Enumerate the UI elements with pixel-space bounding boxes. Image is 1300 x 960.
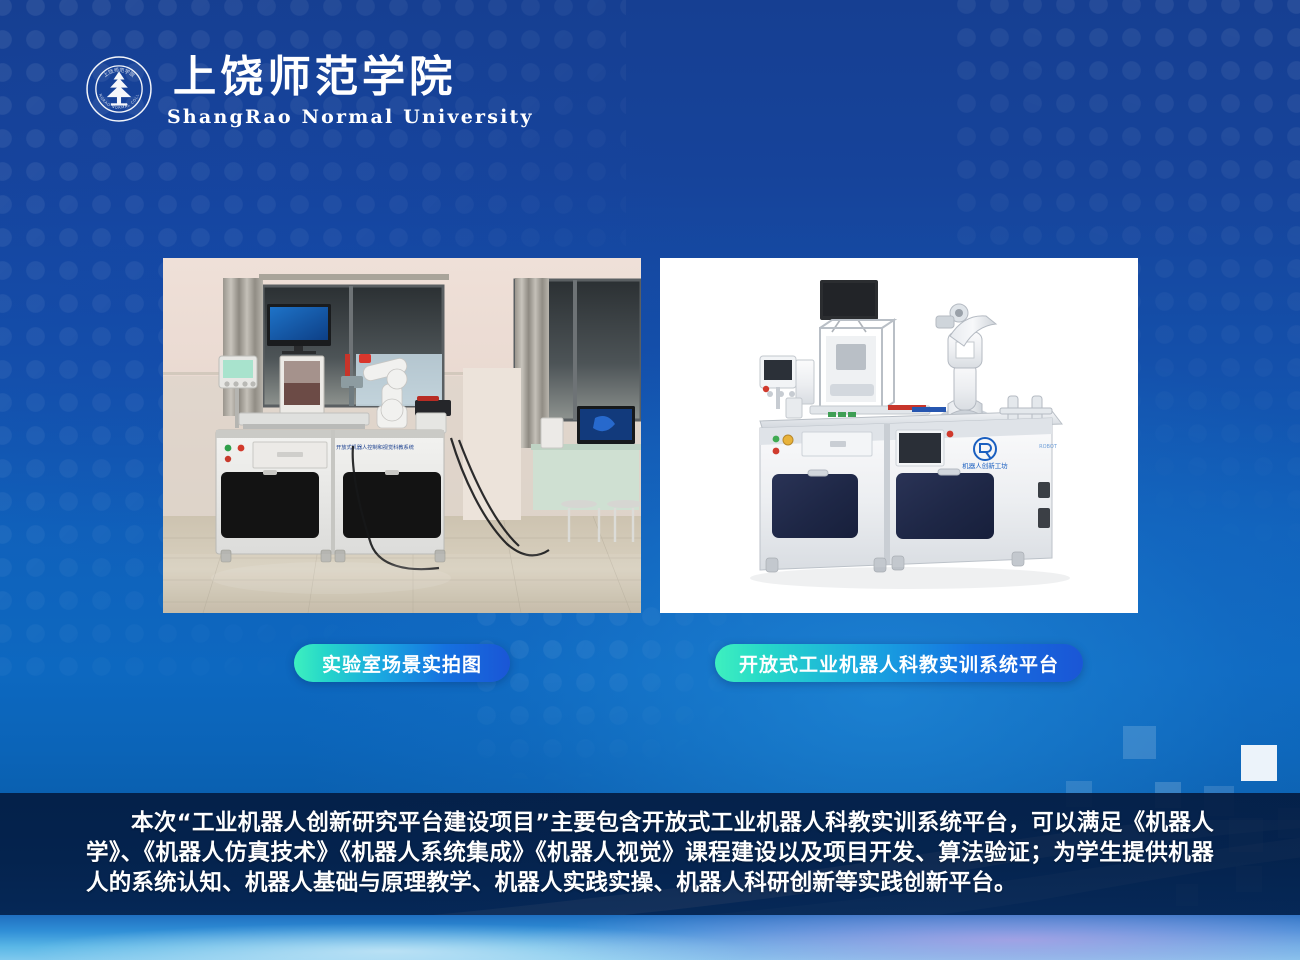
photo-gallery: 开放式机器人控制和视觉科教系统 <box>163 258 1138 613</box>
svg-text:ROBOT: ROBOT <box>1039 444 1058 450</box>
lab-photo-art: 开放式机器人控制和视觉科教系统 <box>163 258 641 613</box>
training-platform-render[interactable]: 机器人创新工坊 ROBOT <box>660 258 1138 613</box>
svg-text:机器人创新工坊: 机器人创新工坊 <box>962 461 1008 470</box>
svg-text:开放式机器人控制和视觉科教系统: 开放式机器人控制和视觉科教系统 <box>336 443 414 451</box>
caption-laboratory-scene[interactable]: 实验室场景实拍图 <box>294 644 510 682</box>
bottom-wave-decoration <box>0 915 1300 960</box>
description-text: 本次“工业机器人创新研究平台建设项目”主要包含开放式工业机器人科教实训系统平台，… <box>86 810 1214 896</box>
university-name-cn: 上饶师范学院 <box>167 50 497 104</box>
university-name-en: ShangRao Normal University <box>167 108 534 127</box>
svg-text:SHANGRAO NORMAL COLLEGE: SHANGRAO NORMAL COLLEGE <box>85 55 140 110</box>
university-logo: 上饶师范学院 SHANGRAO NORMAL COLLEGE 上饶师范学院 Sh… <box>85 50 534 127</box>
decorative-square <box>1123 726 1156 759</box>
description-paragraph: 本次“工业机器人创新研究平台建设项目”主要包含开放式工业机器人科教实训系统平台，… <box>86 808 1214 898</box>
slide-canvas: 上饶师范学院 SHANGRAO NORMAL COLLEGE 上饶师范学院 Sh… <box>0 0 1300 960</box>
photo-captions: 实验室场景实拍图 开放式工业机器人科教实训系统平台 <box>163 644 1137 682</box>
decorative-square-highlight <box>1241 745 1277 781</box>
university-seal-icon: 上饶师范学院 SHANGRAO NORMAL COLLEGE <box>85 55 153 123</box>
background-dot-matrix-center <box>470 600 770 790</box>
caption-training-platform[interactable]: 开放式工业机器人科教实训系统平台 <box>715 644 1083 682</box>
platform-render-art: 机器人创新工坊 ROBOT <box>660 258 1138 613</box>
laboratory-scene-photo[interactable]: 开放式机器人控制和视觉科教系统 <box>163 258 641 613</box>
university-name-cn-text: 上饶师范学院 <box>173 51 456 102</box>
